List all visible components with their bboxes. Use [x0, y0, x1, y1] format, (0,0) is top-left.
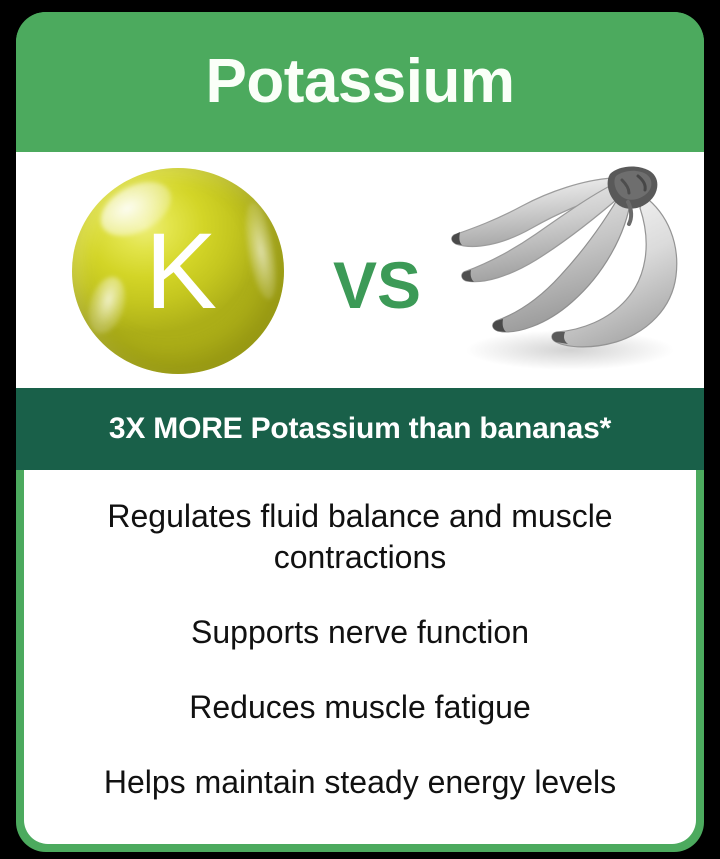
- screenshot-root: Potassium K VS: [0, 0, 720, 859]
- benefit-item: Helps maintain steady energy levels: [50, 762, 670, 803]
- potassium-symbol-label: K: [72, 168, 284, 374]
- claim-text: 3X MORE Potassium than bananas*: [109, 414, 611, 444]
- card-header: Potassium: [16, 12, 704, 152]
- page-title: Potassium: [205, 51, 514, 113]
- banana-bunch-icon: [440, 158, 702, 382]
- claim-banner: 3X MORE Potassium than bananas*: [16, 388, 704, 470]
- versus-label: VS: [322, 252, 432, 318]
- potassium-info-card: Potassium K VS: [16, 12, 704, 852]
- potassium-sphere: K: [72, 168, 284, 374]
- benefit-item: Reduces muscle fatigue: [50, 687, 670, 728]
- benefit-item: Supports nerve function: [50, 612, 670, 653]
- benefit-item: Regulates fluid balance and muscle contr…: [50, 496, 670, 578]
- benefits-list: Regulates fluid balance and muscle contr…: [24, 470, 696, 844]
- comparison-panel: K VS: [16, 152, 704, 388]
